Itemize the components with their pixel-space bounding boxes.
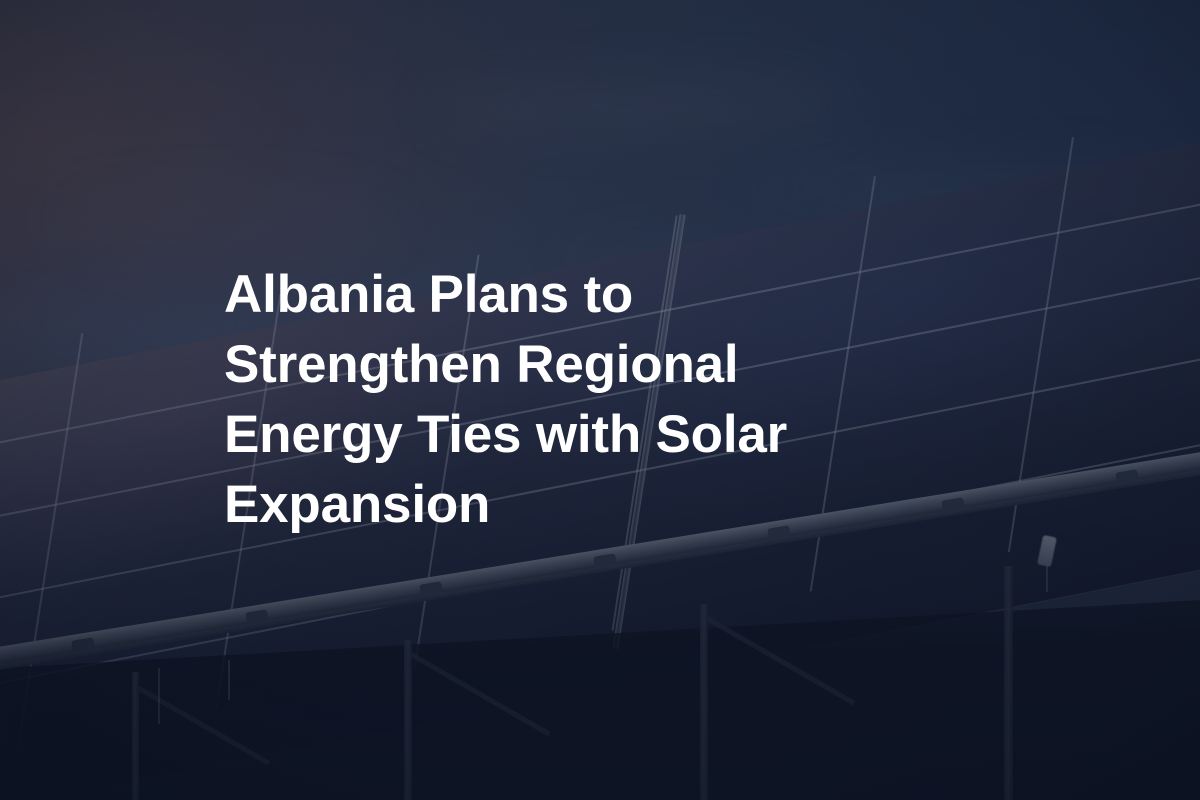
hero-content: Albania Plans to Strengthen Regional Ene… (0, 0, 1200, 800)
article-hero-banner: Albania Plans to Strengthen Regional Ene… (0, 0, 1200, 800)
hero-headline: Albania Plans to Strengthen Regional Ene… (0, 260, 864, 540)
